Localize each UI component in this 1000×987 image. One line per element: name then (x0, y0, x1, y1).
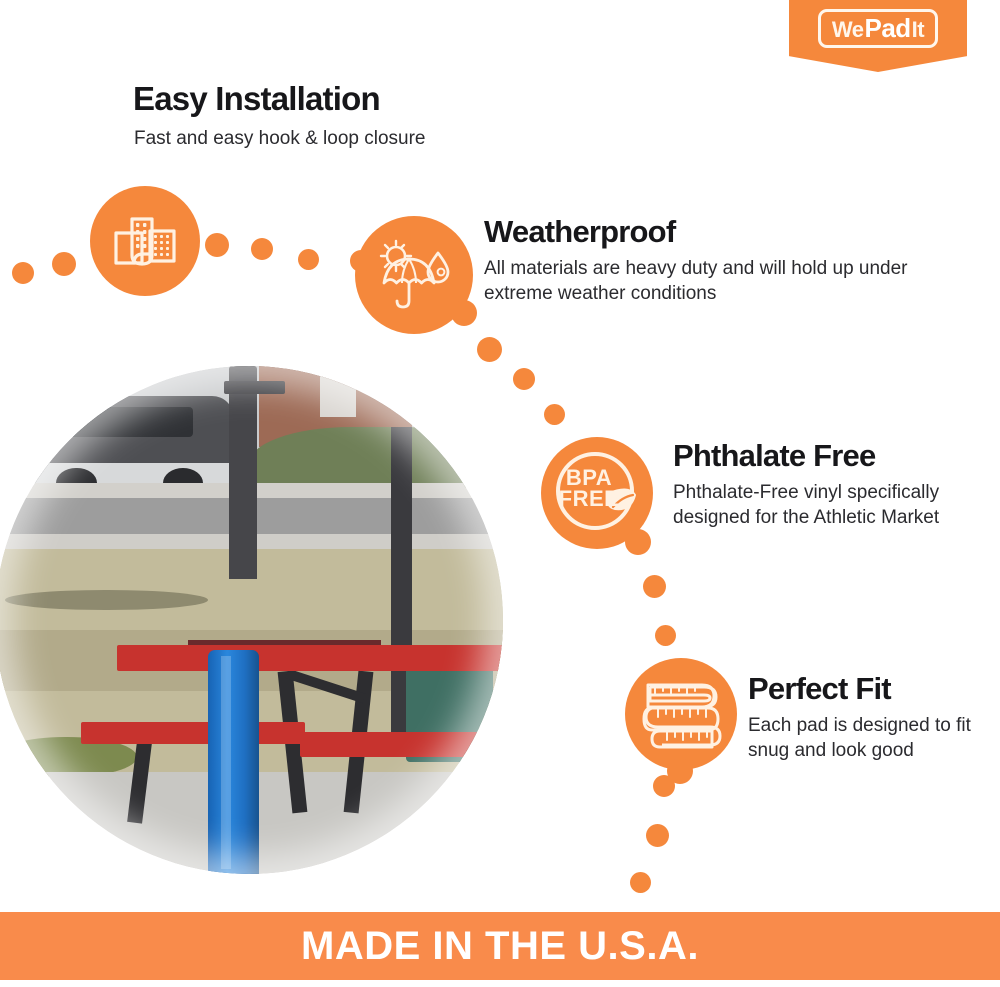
photo-post-crossarm (224, 381, 285, 394)
hook-and-loop-icon (112, 211, 178, 271)
photo-metal-post-center (229, 366, 257, 579)
sun-umbrella-raindrop-icon (376, 239, 452, 311)
connector-dot (643, 575, 666, 598)
photo-building-window (320, 376, 356, 417)
feature-icon-circle-weatherproof (355, 216, 473, 334)
feature-icon-circle-phthalate-free: BPA FREE (541, 437, 653, 549)
photo-picnic-bench (300, 732, 478, 757)
measuring-tape-icon (640, 675, 722, 753)
blob-knob (350, 250, 372, 272)
blob-knob (451, 300, 477, 326)
feature-description-weatherproof: All materials are heavy duty and will ho… (484, 256, 914, 306)
connector-dot (12, 262, 34, 284)
connector-dot (477, 337, 502, 362)
product-photo (0, 366, 503, 874)
feature-description-phthalate-free: Phthalate-Free vinyl specifically design… (673, 480, 943, 530)
photo-pole-pad-highlight (221, 656, 231, 869)
product-features-infographic: We Pad It Easy Installation Fast and eas… (0, 0, 1000, 987)
connector-dot (251, 238, 273, 260)
photo-picnic-bench (81, 722, 305, 745)
brand-logo-box: We Pad It (818, 9, 938, 48)
connector-dot (544, 404, 565, 425)
feature-icon-circle-easy-installation (90, 186, 200, 296)
bpa-free-icon-text-line2: FREE (551, 488, 627, 510)
brand-logo: We Pad It (789, 0, 967, 72)
feature-title-phthalate-free: Phthalate Free (673, 438, 875, 474)
feature-title-perfect-fit: Perfect Fit (748, 671, 891, 707)
connector-dot (298, 249, 319, 270)
connector-dot (646, 824, 669, 847)
feature-description-perfect-fit: Each pad is designed to fit snug and loo… (748, 713, 983, 763)
feature-title-weatherproof: Weatherproof (484, 214, 675, 250)
brand-logo-it: It (912, 19, 924, 41)
feature-icon-circle-perfect-fit (625, 658, 737, 770)
brand-logo-pad: Pad (863, 15, 911, 41)
photo-suv-windows (56, 407, 193, 437)
feature-description-easy-installation: Fast and easy hook & loop closure (134, 126, 554, 151)
connector-dot (205, 233, 229, 257)
made-in-usa-banner: MADE IN THE U.S.A. (0, 912, 1000, 980)
photo-hedge (249, 427, 503, 488)
connector-dot (513, 368, 535, 390)
blob-knob (667, 758, 693, 784)
connector-dot (630, 872, 651, 893)
made-in-usa-text: MADE IN THE U.S.A. (301, 924, 699, 969)
photo-blue-pole-pad (208, 650, 259, 874)
photo-dirt-patch (5, 590, 208, 610)
brand-logo-we: We (832, 19, 864, 41)
connector-dot (655, 625, 676, 646)
feature-title-easy-installation: Easy Installation (133, 80, 380, 118)
bpa-free-leaf-icon: BPA FREE (551, 447, 643, 539)
photo-picnic-tabletop (117, 645, 503, 670)
connector-dot (52, 252, 76, 276)
